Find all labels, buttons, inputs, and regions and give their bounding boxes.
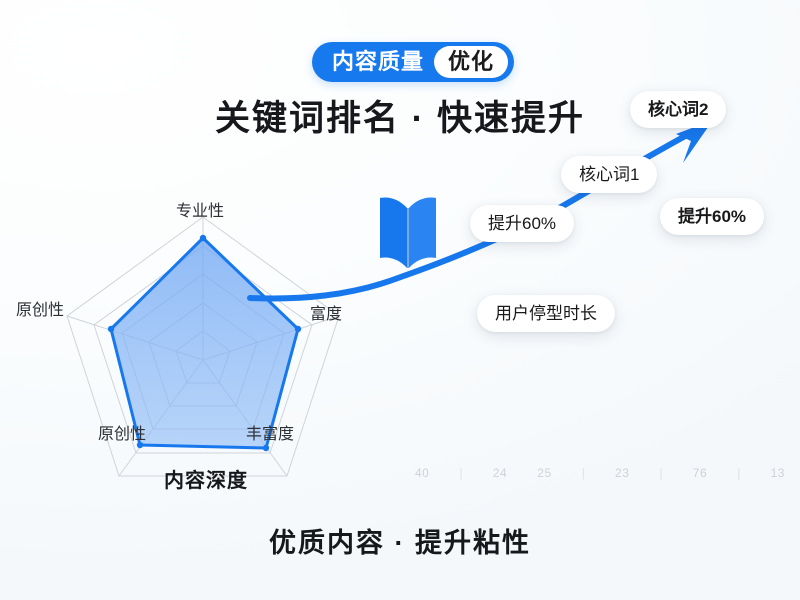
radar-area (111, 238, 298, 448)
axis-tick: 25 (537, 466, 551, 480)
axis-tick-mark: | (737, 466, 740, 480)
pill-keyword2[interactable]: 核心词2 (630, 91, 726, 128)
axis-tick-mark: | (660, 466, 663, 480)
pill-uplift-right[interactable]: 提升60% (660, 198, 764, 235)
axis-tick-row: 40 | 24 25 | 23 | 76 | 13 (415, 462, 785, 484)
axis-tick-mark: | (460, 466, 463, 480)
poster-canvas: 内容质量 优化 关键词排名 · 快速提升 (0, 0, 800, 600)
axis-tick: 23 (615, 466, 629, 480)
axis-tick: 76 (693, 466, 707, 480)
radar-label-bottom-left: 原创性 (98, 420, 146, 444)
axis-tick-mark: | (582, 466, 585, 480)
axis-tick: 40 (415, 466, 429, 480)
pill-dwell-time[interactable]: 用户停型时长 (477, 295, 615, 332)
open-book-icon (376, 186, 440, 272)
pill-keyword1[interactable]: 核心词1 (561, 156, 657, 193)
badge-chip-label: 优化 (434, 46, 508, 78)
footer-title: 优质内容 · 提升粘性 (0, 521, 800, 560)
axis-tick: 24 (493, 466, 507, 480)
content-depth-label: 内容深度 (164, 464, 248, 493)
pill-uplift-left[interactable]: 提升60% (470, 205, 574, 242)
radar-label-top: 专业性 (176, 197, 224, 221)
radar-label-left: 原创性 (16, 296, 64, 320)
radar-label-bottom-right: 丰富度 (246, 420, 294, 444)
radar-label-right: 富度 (310, 300, 342, 324)
radar-svg (38, 195, 368, 460)
badge-main-label: 内容质量 (312, 42, 434, 82)
quality-badge: 内容质量 优化 (312, 42, 514, 82)
radar-chart: 专业性 原创性 富度 原创性 丰富度 (38, 195, 368, 460)
axis-tick: 13 (771, 466, 785, 480)
